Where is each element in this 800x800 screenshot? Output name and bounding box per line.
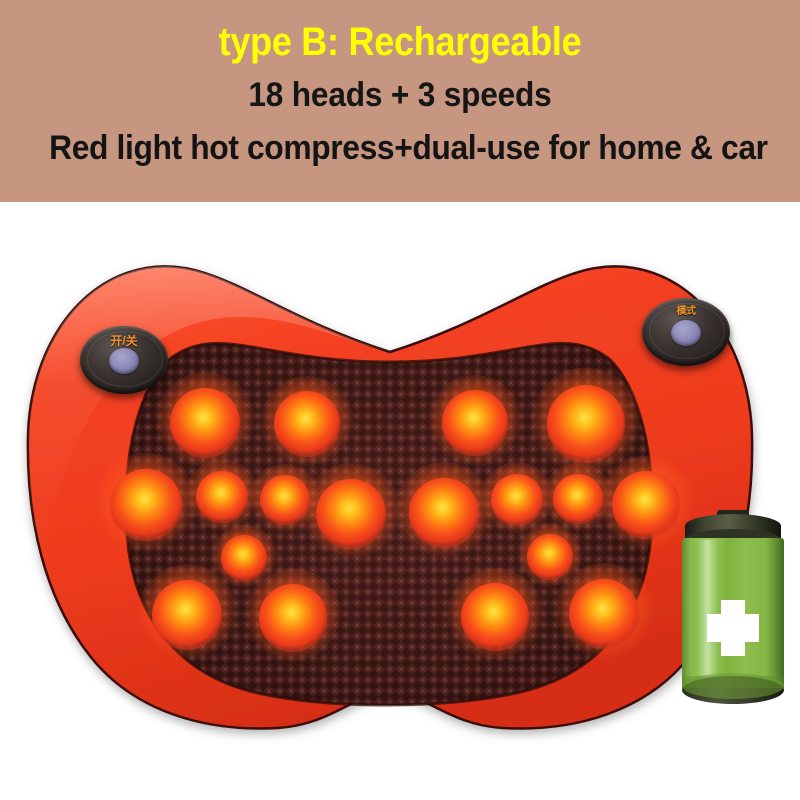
power-button-label: 开/关 <box>80 335 168 347</box>
banner-tagline: Red light hot compress+dual-use for home… <box>26 131 774 165</box>
power-button[interactable]: 开/关 <box>80 326 168 394</box>
massage-node <box>316 479 386 549</box>
battery-svg <box>676 508 790 720</box>
mode-button[interactable]: 模式 <box>642 298 730 366</box>
banner-subtitle: 18 heads + 3 speeds <box>28 78 772 112</box>
massage-node <box>612 471 680 539</box>
massage-node <box>569 579 639 649</box>
massage-node <box>442 390 508 456</box>
massage-node <box>196 471 248 523</box>
massage-node <box>547 385 625 463</box>
mode-button-indicator <box>671 320 701 346</box>
mode-button-label: 模式 <box>642 307 730 317</box>
massage-node <box>259 584 327 652</box>
massage-node <box>170 388 240 458</box>
massage-node <box>553 474 603 524</box>
massage-node <box>110 469 182 541</box>
massage-node <box>409 478 479 548</box>
banner-title: type B: Rechargeable <box>40 22 760 62</box>
massage-node <box>221 535 267 581</box>
product-image-area: 开/关 模式 <box>0 202 800 800</box>
massage-node <box>527 534 573 580</box>
massage-pillow-illustration: 开/关 模式 <box>16 240 764 752</box>
massage-node <box>152 580 222 650</box>
power-button-indicator <box>109 348 139 374</box>
promo-banner: type B: Rechargeable 18 heads + 3 speeds… <box>0 0 800 202</box>
massage-node <box>260 475 310 525</box>
massage-node <box>274 391 340 457</box>
massage-node <box>491 474 543 526</box>
massage-node <box>461 583 529 651</box>
battery-icon <box>676 508 790 720</box>
